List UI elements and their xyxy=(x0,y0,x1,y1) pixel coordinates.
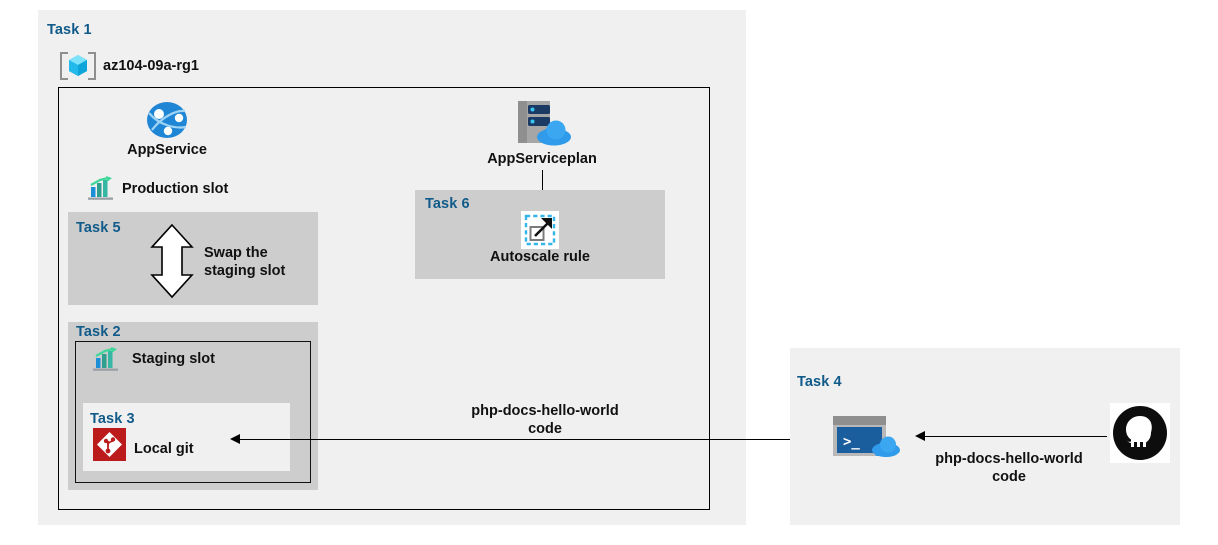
cloudshell-to-localgit-line xyxy=(240,439,832,440)
local-git-label: Local git xyxy=(134,440,194,458)
deployment-slot-icon-production xyxy=(87,176,117,202)
cloudshell-to-localgit-arrowhead xyxy=(230,434,240,444)
resource-group-name: az104-09a-rg1 xyxy=(103,57,199,75)
task5-text-line1: Swap the xyxy=(204,244,268,262)
task3-label: Task 3 xyxy=(90,411,135,427)
appservice-globe-icon xyxy=(145,101,189,139)
github-octocat-icon xyxy=(1110,403,1170,463)
deployment-slot-icon-staging xyxy=(92,347,122,373)
git-repository-icon xyxy=(93,428,126,461)
resource-group-cube-icon xyxy=(60,50,96,82)
task4-label: Task 4 xyxy=(797,374,842,390)
task2-label: Task 2 xyxy=(76,324,121,340)
github-to-cloudshell-line xyxy=(925,436,1107,437)
autoscale-rule-icon xyxy=(521,211,559,249)
center-arrow-label-line2: code xyxy=(455,420,635,438)
task5-label: Task 5 xyxy=(76,220,121,236)
task5-text-line2: staging slot xyxy=(204,262,285,280)
cloud-shell-terminal-icon: >_ xyxy=(832,415,902,460)
staging-slot-label: Staging slot xyxy=(132,350,215,368)
task1-label: Task 1 xyxy=(47,22,92,38)
autoscale-rule-label: Autoscale rule xyxy=(450,248,630,266)
double-headed-vertical-arrow-icon xyxy=(148,223,196,299)
task6-label: Task 6 xyxy=(425,196,470,212)
svg-text:>_: >_ xyxy=(843,434,860,450)
diagram-canvas: Task 1 az104-09a-rg1 AppService xyxy=(0,0,1218,545)
appserviceplan-label: AppServiceplan xyxy=(452,150,632,168)
production-slot-label: Production slot xyxy=(122,180,228,198)
task4-arrow-label-line1: php-docs-hello-world xyxy=(918,450,1100,468)
appservice-label: AppService xyxy=(98,141,236,159)
task4-arrow-label-line2: code xyxy=(918,468,1100,486)
center-arrow-label-line1: php-docs-hello-world xyxy=(455,402,635,420)
github-to-cloudshell-arrowhead xyxy=(915,431,925,441)
appserviceplan-server-cloud-icon xyxy=(512,99,572,147)
